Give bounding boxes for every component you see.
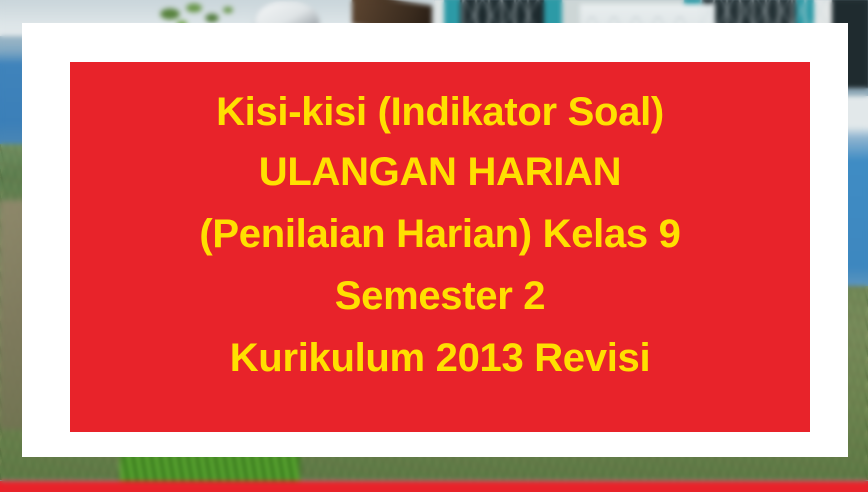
title-line-1: Kisi-kisi (Indikator Soal) [216,92,664,132]
red-title-panel: Kisi-kisi (Indikator Soal) ULANGAN HARIA… [70,62,810,432]
title-line-2: ULANGAN HARIAN [259,152,621,192]
white-card: Kisi-kisi (Indikator Soal) ULANGAN HARIA… [22,23,848,457]
poster-canvas: Kisi-kisi (Indikator Soal) ULANGAN HARIA… [0,0,868,492]
bottom-red-strip [0,481,868,492]
title-line-5: Kurikulum 2013 Revisi [230,338,651,378]
title-line-3: (Penilaian Harian) Kelas 9 [199,214,680,254]
title-line-4: Semester 2 [335,276,545,316]
